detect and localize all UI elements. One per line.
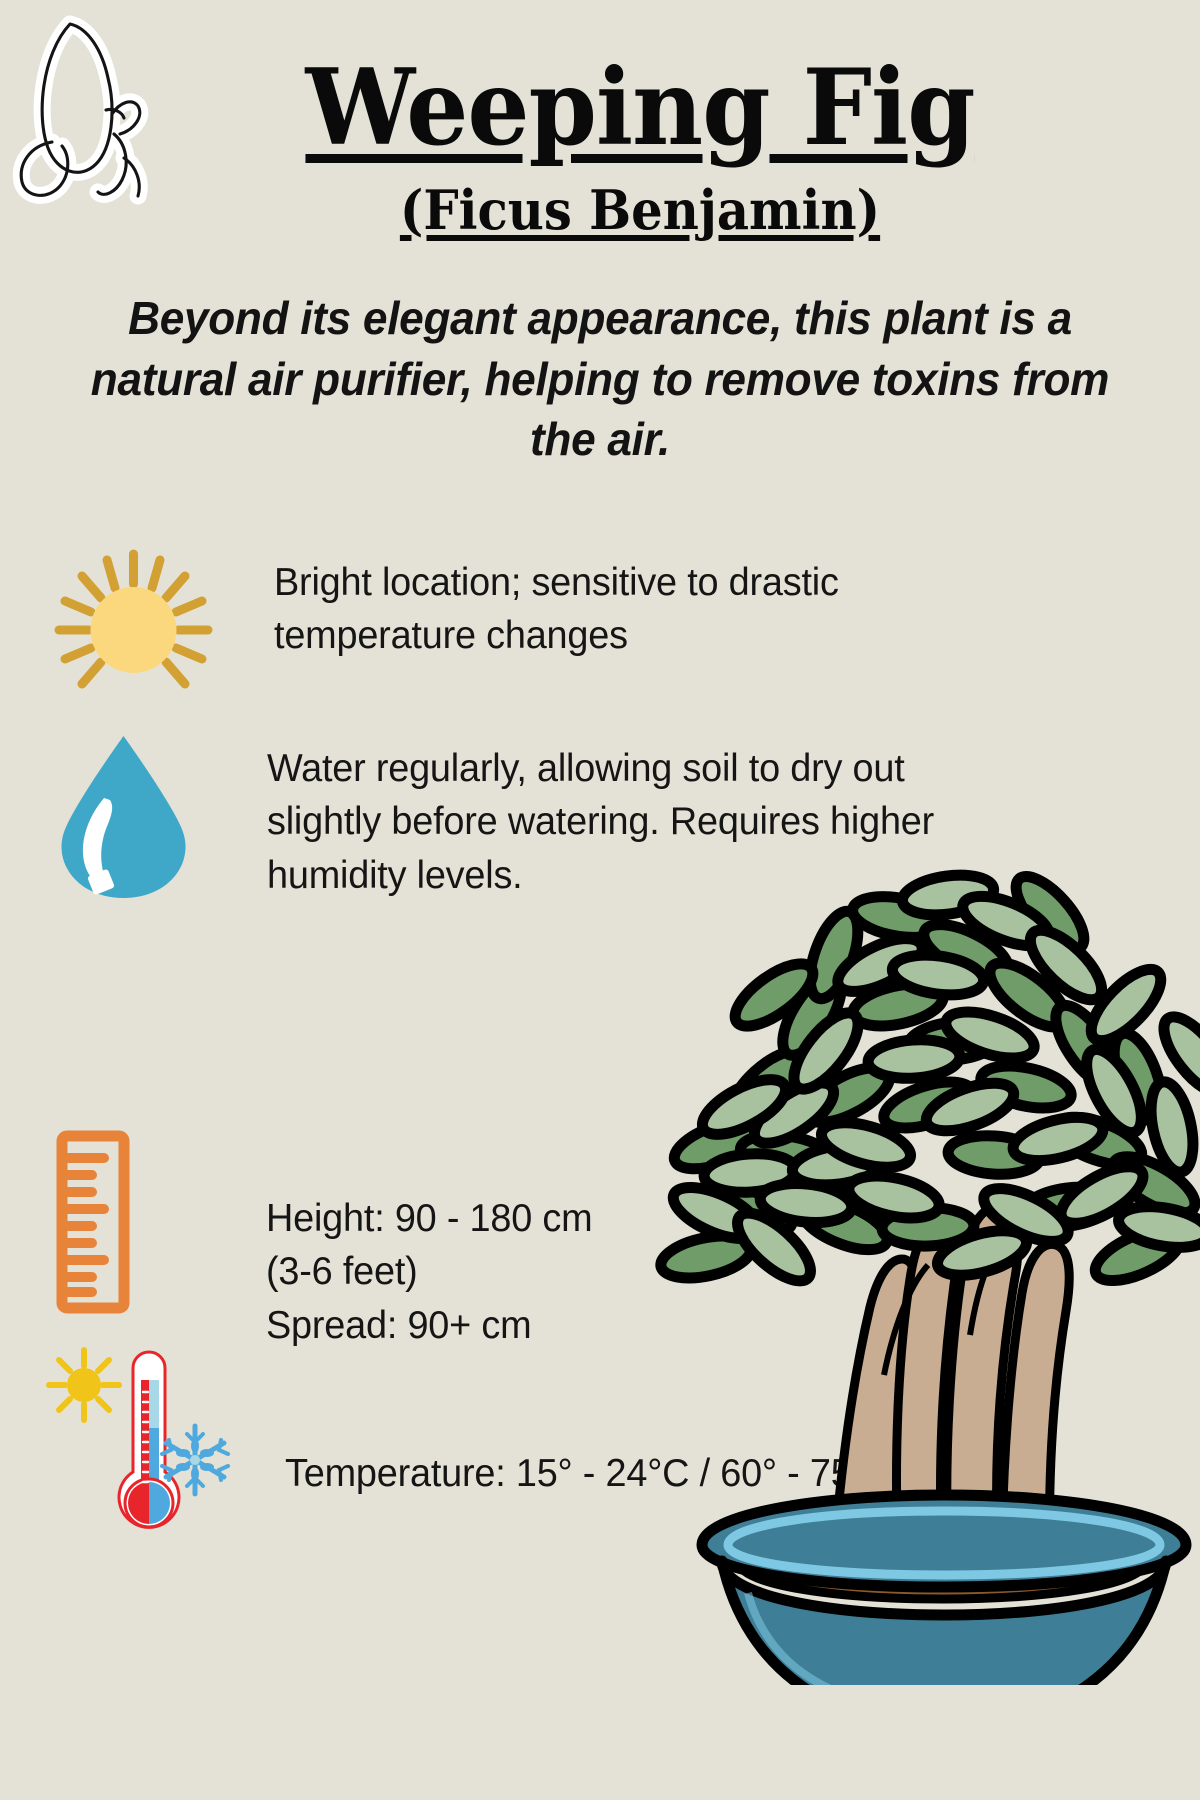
page-subtitle: (Ficus Benjamin) bbox=[249, 182, 1031, 239]
plant-pot bbox=[702, 1495, 1186, 1685]
thermometer-sun-glyph bbox=[49, 1350, 119, 1420]
plant-care-poster: Weeping Fig (Ficus Benjamin) Beyond its … bbox=[0, 0, 1200, 1800]
butterfly-line-art-logo bbox=[8, 6, 213, 211]
plant-description: Beyond its elegant appearance, this plan… bbox=[70, 288, 1130, 470]
care-text-light: Bright location; sensitive to drastic te… bbox=[274, 556, 984, 663]
ruler-icon bbox=[46, 1130, 161, 1320]
title-block: Weeping Fig (Ficus Benjamin) bbox=[215, 55, 1065, 239]
care-text-size: Height: 90 - 180 cm (3-6 feet) Spread: 9… bbox=[266, 1192, 592, 1352]
care-row-light: Bright location; sensitive to drastic te… bbox=[46, 540, 1006, 695]
plant-canopy bbox=[657, 866, 1200, 1292]
weeping-fig-plant-illustration bbox=[598, 855, 1200, 1685]
page-title: Weeping Fig bbox=[245, 55, 1036, 160]
poster-header: Weeping Fig (Ficus Benjamin) bbox=[0, 0, 1200, 300]
thermometer-icon bbox=[38, 1340, 233, 1545]
water-drop-icon bbox=[46, 728, 201, 913]
sun-icon bbox=[46, 540, 221, 695]
